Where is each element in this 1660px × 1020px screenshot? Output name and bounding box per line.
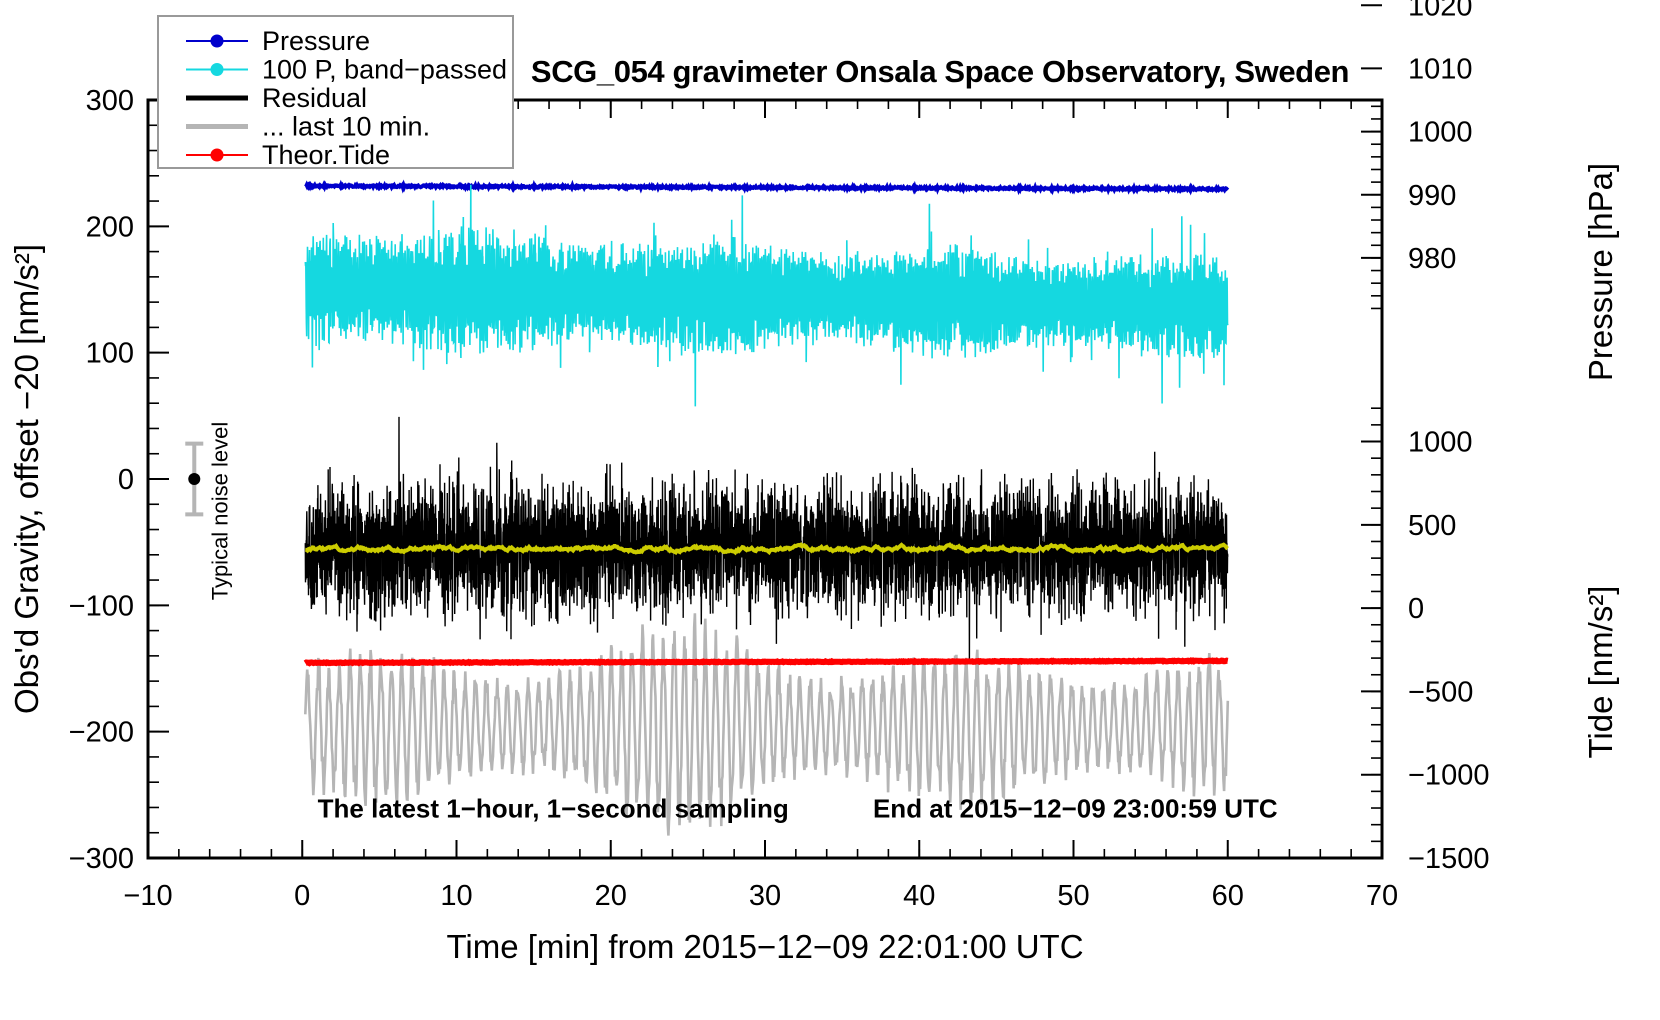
gravimeter-chart-page: −10010203040506070Time [min] from 2015−1… [0,0,1660,1020]
series-residual [305,417,1228,662]
legend-marker-1 [211,63,224,76]
pressure-tick-label-2: 1000 [1408,117,1473,149]
tide-tick-label-0: −1500 [1408,843,1489,875]
y-tick-label-2: −100 [69,590,134,622]
x-tick-label-0: −10 [123,880,172,912]
series-band-passed [305,185,1228,407]
x-tick-label-8: 70 [1366,880,1398,912]
chart-canvas: −10010203040506070Time [min] from 2015−1… [0,0,1660,1020]
y-tick-label-5: 200 [86,211,134,243]
tide-axis-title: Tide [nm/s²] [1582,586,1619,759]
legend-marker-0 [211,35,224,48]
x-tick-label-4: 30 [749,880,781,912]
series-pressure [305,185,1228,190]
pressure-axis-title: Pressure [hPa] [1582,163,1619,381]
pressure-tick-label-4: 1020 [1408,0,1473,22]
y-tick-label-1: −200 [69,717,134,749]
annotation-sampling-note: The latest 1−hour, 1−second sampling [318,794,789,824]
legend-label-2: Residual [262,83,367,113]
tide-tick-label-4: 500 [1408,510,1456,542]
x-axis-title: Time [min] from 2015−12−09 22:01:00 UTC [446,928,1083,965]
pressure-tick-label-3: 1010 [1408,53,1473,85]
tide-tick-label-1: −1000 [1408,760,1489,792]
pressure-tick-label-0: 980 [1408,243,1456,275]
noise-level-label: Typical noise level [207,422,232,601]
tide-tick-label-3: 0 [1408,593,1424,625]
plot-traces [305,185,1228,836]
legend-marker-4 [211,149,224,162]
legend-label-0: Pressure [262,26,370,56]
y-axis-title: Obs'd Gravity, offset −20 [nm/s²] [8,244,45,714]
x-tick-label-3: 20 [595,880,627,912]
y-tick-label-4: 100 [86,338,134,370]
y-tick-label-3: 0 [118,464,134,496]
x-tick-label-6: 50 [1057,880,1089,912]
x-tick-label-5: 40 [903,880,935,912]
y-tick-label-0: −300 [69,843,134,875]
annotation-end-time-note: End at 2015−12−09 23:00:59 UTC [873,794,1278,824]
legend-label-1: 100 P, band−passed [262,55,507,85]
legend-label-4: Theor.Tide [262,140,390,170]
y-tick-label-6: 300 [86,85,134,117]
noise-bar-marker [188,473,200,485]
tide-tick-label-5: 1000 [1408,427,1473,459]
pressure-tick-label-1: 990 [1408,180,1456,212]
x-tick-label-1: 0 [294,880,310,912]
series-theor-tide [305,661,1228,664]
x-tick-label-2: 10 [440,880,472,912]
tide-tick-label-2: −500 [1408,676,1473,708]
legend-label-3: ... last 10 min. [262,112,430,142]
x-tick-label-7: 60 [1212,880,1244,912]
chart-title: SCG_054 gravimeter Onsala Space Observat… [531,54,1349,89]
